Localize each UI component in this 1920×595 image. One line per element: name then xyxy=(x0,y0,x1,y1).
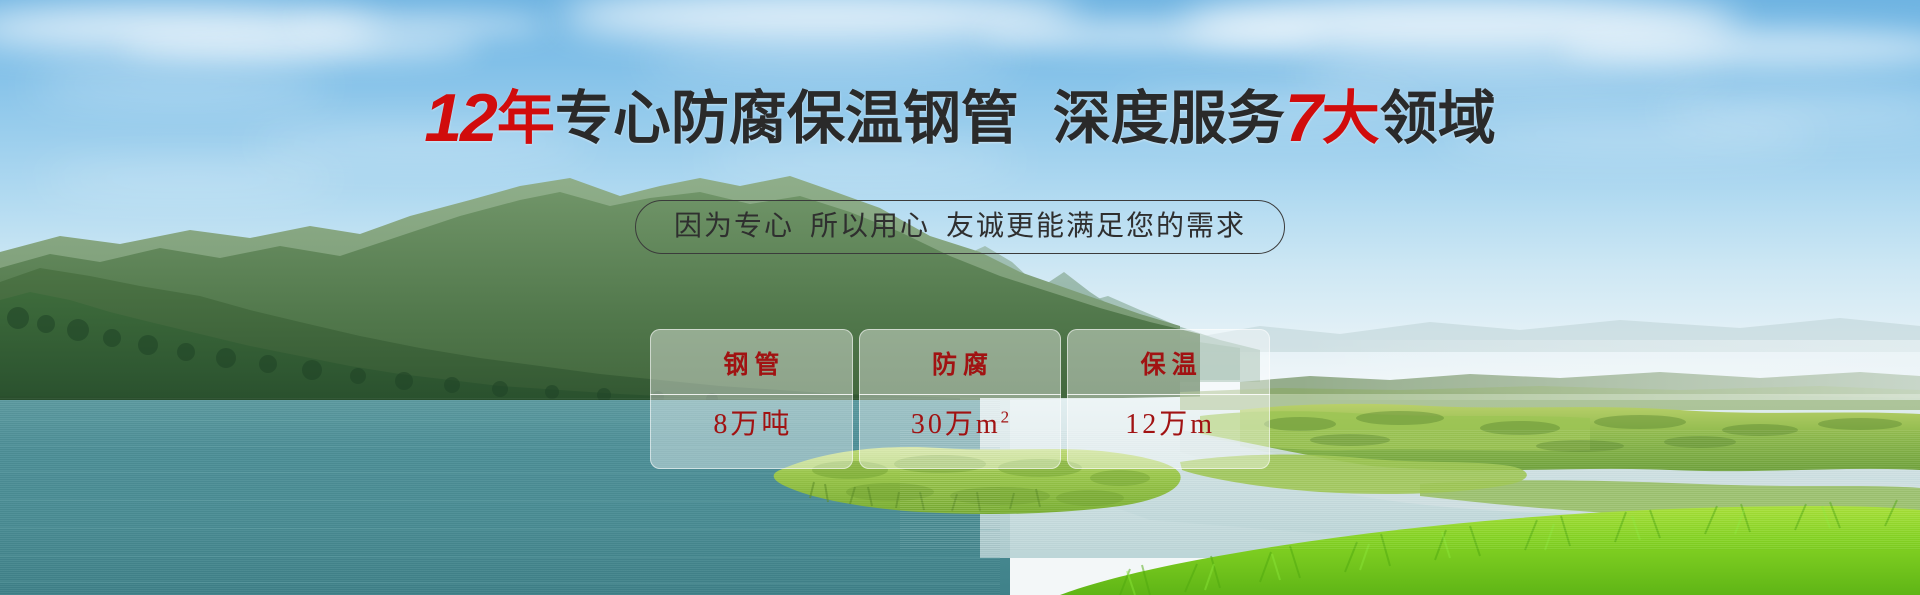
headline-years-unit: 年 xyxy=(497,86,555,151)
stat-card-value: 30万m2 xyxy=(908,411,1012,439)
stat-card-divider xyxy=(859,394,1062,395)
stat-card-value: 8万吨 xyxy=(710,411,792,439)
stat-card-row: 钢管 8万吨 防腐 30万m2 保温 12万m xyxy=(650,329,1270,469)
subtitle-part-1: 因为专心 xyxy=(674,210,794,241)
stat-card-value-superscript: 2 xyxy=(1001,408,1013,427)
stat-card-value-text: 8万吨 xyxy=(713,409,792,440)
stat-card-divider xyxy=(650,394,853,395)
headline-fields-unit: 大 xyxy=(1322,86,1380,151)
stat-card-label: 钢管 xyxy=(717,353,785,378)
headline-years-number: 12 xyxy=(424,80,496,156)
headline-fields-tail: 领域 xyxy=(1380,86,1496,151)
stat-card-divider xyxy=(1067,394,1270,395)
subtitle-part-3: 友诚更能满足您的需求 xyxy=(946,210,1246,241)
subtitle-pill: 因为专心所以用心友诚更能满足您的需求 xyxy=(635,200,1285,254)
banner-content: 12年专心防腐保温钢管深度服务7大领域 因为专心所以用心友诚更能满足您的需求 钢… xyxy=(0,0,1920,595)
stat-card-insulation: 保温 12万m xyxy=(1067,329,1270,469)
stat-card-value: 12万m xyxy=(1122,411,1215,439)
stat-card-steel-pipe: 钢管 8万吨 xyxy=(650,329,853,469)
stat-card-label: 防腐 xyxy=(926,353,994,378)
stat-card-anticorrosion: 防腐 30万m2 xyxy=(859,329,1062,469)
headline-fields-number: 7 xyxy=(1285,80,1321,156)
stat-card-value-text: 12万m xyxy=(1125,409,1215,440)
headline-service-text: 深度服务 xyxy=(1053,86,1285,151)
promo-banner: 12年专心防腐保温钢管深度服务7大领域 因为专心所以用心友诚更能满足您的需求 钢… xyxy=(0,0,1920,595)
stat-card-value-text: 30万m xyxy=(911,409,1001,440)
headline: 12年专心防腐保温钢管深度服务7大领域 xyxy=(0,84,1920,152)
subtitle-pill-wrapper: 因为专心所以用心友诚更能满足您的需求 xyxy=(0,200,1920,254)
subtitle-part-2: 所以用心 xyxy=(810,210,930,241)
stat-card-label: 保温 xyxy=(1135,353,1203,378)
headline-main-text: 专心防腐保温钢管 xyxy=(555,86,1019,151)
